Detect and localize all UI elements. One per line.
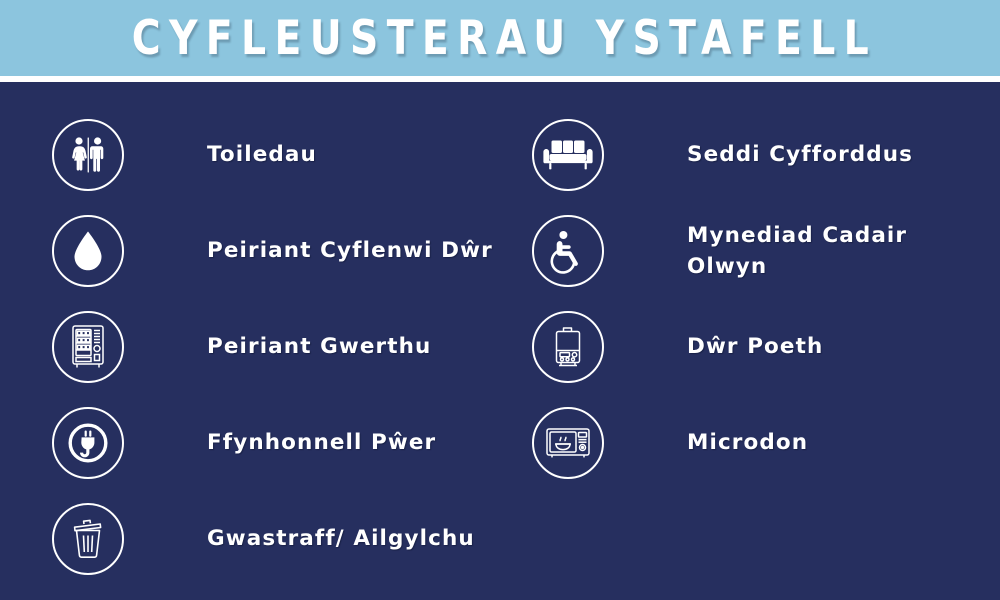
facility-label: Toiledau — [207, 139, 317, 170]
facilities-grid: Toiledau Peiriant Cyflenwi Dŵr — [0, 82, 1000, 600]
water-boiler-icon — [532, 311, 604, 383]
facility-item[interactable]: Peiriant Gwerthu — [52, 299, 512, 395]
facility-label: Microdon — [687, 427, 808, 458]
trash-bin-icon — [52, 503, 124, 575]
microwave-icon — [532, 407, 604, 479]
facility-label: Mynediad Cadair Olwyn — [687, 220, 907, 282]
facility-item[interactable]: Seddi Cyfforddus — [532, 107, 992, 203]
vending-machine-icon — [52, 311, 124, 383]
facility-label: Peiriant Cyflenwi Dŵr — [207, 235, 493, 266]
facility-item[interactable]: Toiledau — [52, 107, 512, 203]
facility-label: Dŵr Poeth — [687, 331, 823, 362]
water-drop-icon — [52, 215, 124, 287]
facility-label: Peiriant Gwerthu — [207, 331, 431, 362]
facility-label: Ffynhonnell Pŵer — [207, 427, 436, 458]
room-facilities-poster: CYFLEUSTERAU YSTAFELL — [0, 0, 1000, 600]
sofa-icon — [532, 119, 604, 191]
poster-header: CYFLEUSTERAU YSTAFELL — [0, 0, 1000, 76]
facility-item[interactable]: Peiriant Cyflenwi Dŵr — [52, 203, 512, 299]
restrooms-icon — [52, 119, 124, 191]
facility-item[interactable]: Mynediad Cadair Olwyn — [532, 203, 992, 299]
facility-item[interactable]: Dŵr Poeth — [532, 299, 992, 395]
facility-item[interactable]: Gwastraff/ Ailgylchu — [52, 491, 512, 587]
wheelchair-icon — [532, 215, 604, 287]
power-plug-icon — [52, 407, 124, 479]
left-column: Toiledau Peiriant Cyflenwi Dŵr — [52, 82, 532, 600]
facility-label: Gwastraff/ Ailgylchu — [207, 523, 475, 554]
facility-label: Seddi Cyfforddus — [687, 139, 913, 170]
right-column: Seddi Cyfforddus Mynediad Cadair — [532, 82, 1000, 600]
facility-item[interactable]: Ffynhonnell Pŵer — [52, 395, 512, 491]
facility-item[interactable]: Microdon — [532, 395, 992, 491]
page-title: CYFLEUSTERAU YSTAFELL — [123, 15, 877, 62]
